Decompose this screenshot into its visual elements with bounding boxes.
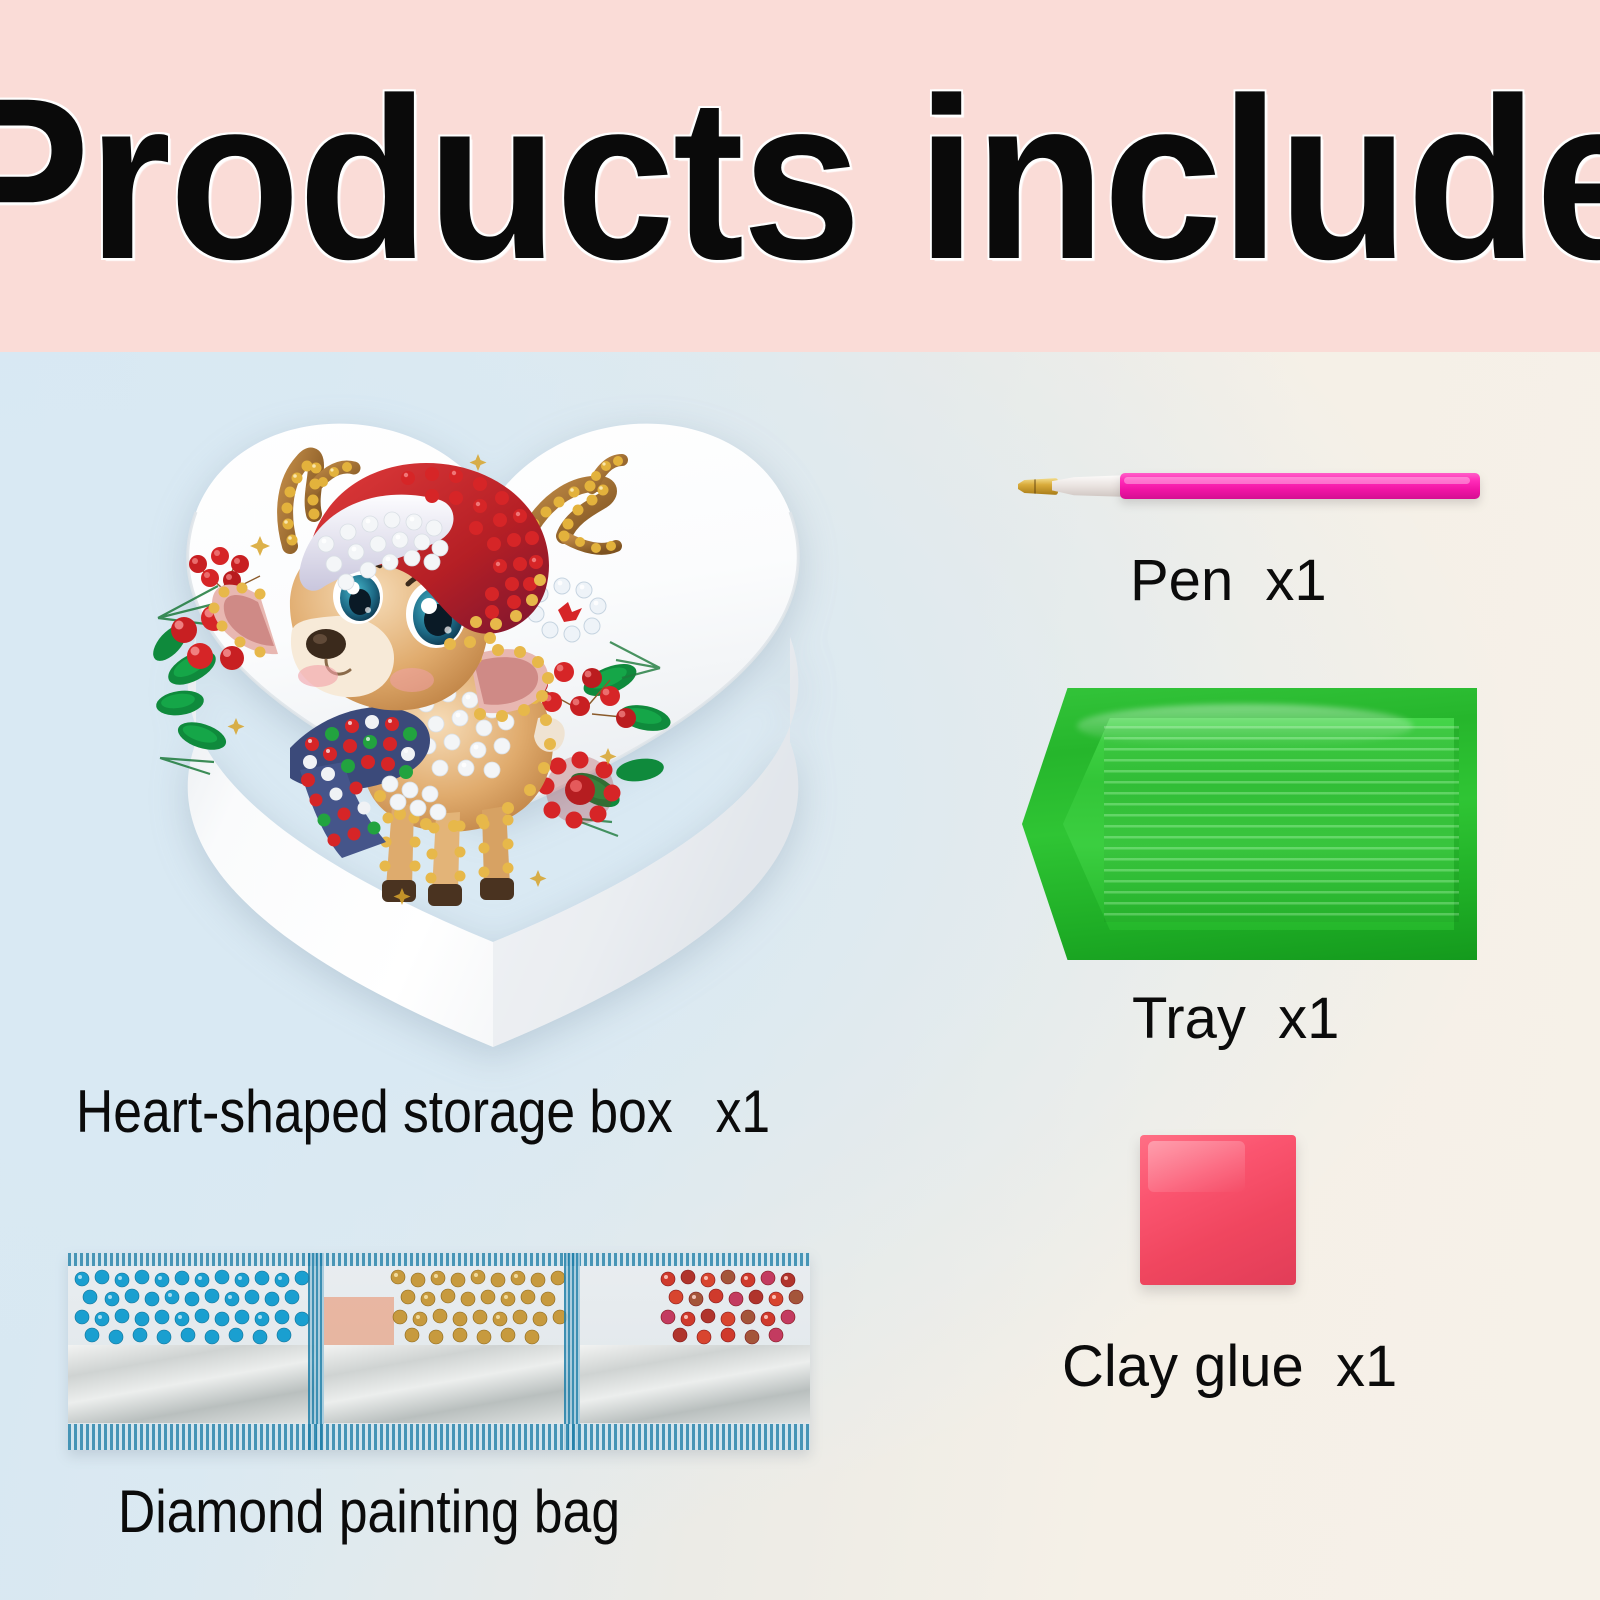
bag-cell-blue [68, 1253, 316, 1450]
bag-cell-red [580, 1253, 810, 1450]
red-rhinestones [580, 1267, 810, 1345]
heart-shaped-storage-box [88, 382, 898, 1072]
gold-rhinestones [324, 1267, 572, 1345]
bag-foil-strip-3 [580, 1345, 810, 1423]
pen-barrel [1120, 473, 1480, 499]
label-diamond-painting-bag: Diamond painting bag [118, 1482, 620, 1542]
pen-item [930, 455, 1555, 525]
page-title: Products include [0, 71, 1600, 287]
bag-seam-1 [308, 1253, 324, 1450]
tray-shape [1022, 688, 1477, 960]
pen-clear-section [1052, 475, 1130, 497]
bag-foil-strip-2 [324, 1345, 572, 1423]
bag-cell-gold [324, 1253, 572, 1450]
tray-gloss-highlight [1077, 704, 1414, 748]
header-banner: Products include [0, 0, 1600, 352]
tray-ridges [1104, 726, 1459, 922]
blue-rhinestones [68, 1267, 316, 1345]
bag-foil-strip-1 [68, 1345, 316, 1423]
clay-glue-item [1140, 1135, 1296, 1285]
bag-bottom-seal [68, 1424, 810, 1450]
label-pen: Pen x1 [1130, 552, 1327, 610]
product-include-page: Products include [0, 0, 1600, 1600]
label-tray: Tray x1 [1132, 990, 1339, 1048]
bag-seam-2 [564, 1253, 580, 1450]
label-heart-shaped-storage-box: Heart-shaped storage box x1 [76, 1082, 770, 1142]
diamond-painting-bag-item [68, 1253, 810, 1450]
tray-item [1022, 688, 1477, 960]
label-clay-glue: Clay glue x1 [1062, 1338, 1397, 1396]
deer-artwork [140, 418, 730, 938]
